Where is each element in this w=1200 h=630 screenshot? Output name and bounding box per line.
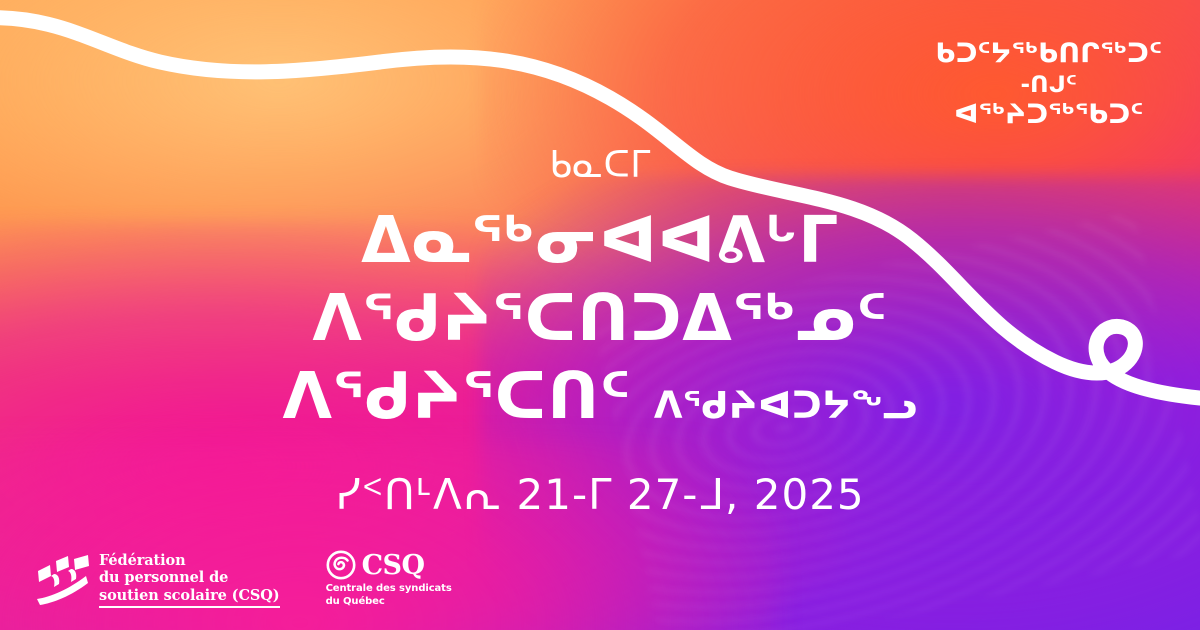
headline-block: ᑲᓇᑕᒥ ᐃᓇᖅᓂᐊᐊᕕᒡᒥ ᐱᖁᔨᕐᑕᑎᑐᐃᖅᓄᑦ ᐱᖁᔨᕐᑕᑎᑦ ᐱᖁᔨᐊᑐ… (0, 148, 1200, 519)
headline-eyebrow: ᑲᓇᑕᒥ (0, 148, 1200, 184)
logo-csq-line-2: du Québec (326, 596, 452, 609)
headline-line-3: ᐱᖁᔨᕐᑕᑎᑦ ᐱᖁᔨᐊᑐᔭᖕᓗ (0, 358, 1200, 436)
headline-line-1: ᐃᓇᖅᓂᐊᐊᕕᒡᒥ (0, 202, 1200, 280)
logo-strip: Fédération du personnel de soutien scola… (34, 550, 452, 608)
spiral-icon (326, 550, 356, 580)
logo-fpss-line-3: soutien scolaire (CSQ) (99, 587, 280, 604)
flags-icon (34, 554, 90, 606)
logo-csq-top: CSQ (326, 550, 452, 580)
logo-fpss-text: Fédération du personnel de soutien scola… (99, 552, 280, 608)
headline-line-3-sub: ᐱᖁᔨᐊᑐᔭᖕᓗ (654, 384, 918, 427)
logo-csq-line-1: Centrale des syndicats (326, 583, 452, 596)
corner-tagline-line-1: ᑲᑐᑦᔭᖅᑲᑎᒋᖅᑐᑦ (935, 38, 1162, 71)
corner-tagline: ᑲᑐᑦᔭᖅᑲᑎᒋᖅᑐᑦ -ᑎᒍᑦ ᐊᖅᔨᑐᖅᖃᑐᑦ (935, 38, 1162, 132)
corner-tagline-line-3: ᐊᖅᔨᑐᖅᖃᑐᑦ (935, 99, 1162, 132)
event-date: ᓯᑉᑎᒻᐱᕆ 21-ᒥ 27-ᒧ, 2025 (0, 470, 1200, 519)
logo-csq-block: CSQ Centrale des syndicats du Québec (326, 550, 452, 608)
logo-csq-wordmark: CSQ (362, 552, 425, 579)
logo-fpss-line-1: Fédération (99, 552, 280, 569)
logo-csq-subtitle: Centrale des syndicats du Québec (326, 583, 452, 608)
logo-fpss: Fédération du personnel de soutien scola… (34, 552, 280, 608)
logo-csq: CSQ Centrale des syndicats du Québec (326, 550, 452, 608)
headline-line-3-main: ᐱᖁᔨᕐᑕᑎᑦ (282, 360, 631, 434)
corner-tagline-line-2: -ᑎᒍᑦ (935, 71, 1162, 99)
headline-line-2: ᐱᖁᔨᕐᑕᑎᑐᐃᖅᓄᑦ (0, 280, 1200, 358)
poster-canvas: ᑲᑐᑦᔭᖅᑲᑎᒋᖅᑐᑦ -ᑎᒍᑦ ᐊᖅᔨᑐᖅᖃᑐᑦ ᑲᓇᑕᒥ ᐃᓇᖅᓂᐊᐊᕕᒡᒥ… (0, 0, 1200, 630)
logo-fpss-line-2: du personnel de (99, 569, 280, 586)
